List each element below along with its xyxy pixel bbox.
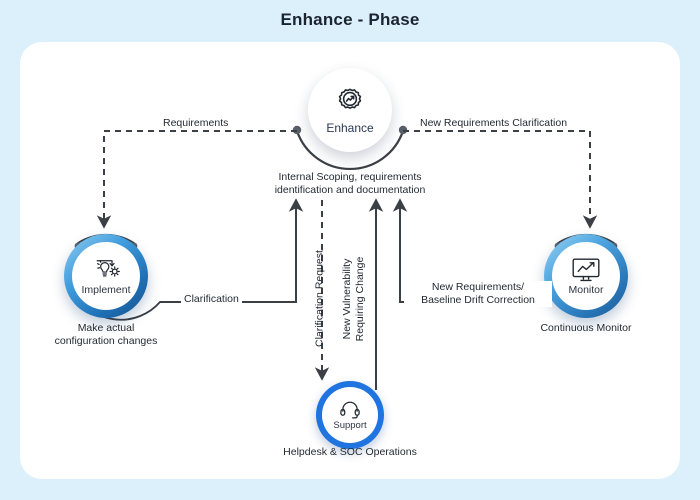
node-monitor-label: Monitor: [568, 285, 603, 296]
node-monitor-disc[interactable]: Monitor: [552, 242, 620, 310]
lightbulb-gear-icon: [89, 257, 123, 283]
node-monitor[interactable]: Monitor: [538, 228, 634, 324]
edge-label-new-requirements-baseline-line2: Baseline Drift Correction: [406, 294, 550, 307]
node-enhance-label: Enhance: [326, 122, 373, 134]
node-support-disc[interactable]: Support: [322, 387, 378, 443]
gear-trend-icon: [333, 86, 367, 120]
node-implement-label: Implement: [81, 285, 130, 296]
node-implement-caption-line1: Make actual: [26, 322, 186, 335]
headset-icon: [339, 399, 361, 419]
edge-label-new-requirements-clarification: New Requirements Clarification: [420, 117, 567, 130]
monitor-chart-icon: [571, 257, 601, 283]
node-enhance-disc[interactable]: Enhance: [308, 68, 392, 152]
edge-label-new-requirements-baseline-line1: New Requirements/: [406, 281, 550, 294]
node-implement-caption-line2: configuration changes: [26, 335, 186, 348]
edge-label-clarification-request: Clarification Request: [314, 224, 327, 374]
edge-label-new-vulnerability: New Vulnerability Requiring Change: [341, 224, 367, 374]
edge-label-clarification: Clarification: [181, 293, 242, 306]
node-monitor-caption: Continuous Monitor: [506, 322, 666, 335]
edge-clarification-path: [160, 205, 296, 302]
node-enhance-caption-line1: Internal Scoping, requirements: [250, 171, 450, 184]
edge-label-new-requirements-baseline: New Requirements/ Baseline Drift Correct…: [404, 281, 552, 307]
edge-label-new-vulnerability-line2: Requiring Change: [354, 224, 367, 374]
diagram-canvas: Enhance - Phase: [0, 0, 700, 500]
node-implement-disc[interactable]: Implement: [72, 242, 140, 310]
node-monitor-caption-line1: Continuous Monitor: [506, 322, 666, 335]
node-implement-caption: Make actual configuration changes: [26, 322, 186, 348]
node-support-caption-line1: Helpdesk & SOC Operations: [270, 446, 430, 459]
node-implement[interactable]: Implement: [58, 228, 154, 324]
node-support-label: Support: [333, 421, 366, 431]
node-support-caption: Helpdesk & SOC Operations: [270, 446, 430, 459]
edge-label-requirements: Requirements: [163, 117, 228, 130]
node-enhance[interactable]: Enhance: [300, 60, 400, 160]
node-enhance-caption-line2: identification and documentation: [250, 184, 450, 197]
edge-label-new-vulnerability-line1: New Vulnerability: [341, 224, 354, 374]
node-support[interactable]: Support: [316, 381, 384, 449]
node-enhance-caption: Internal Scoping, requirements identific…: [250, 171, 450, 197]
